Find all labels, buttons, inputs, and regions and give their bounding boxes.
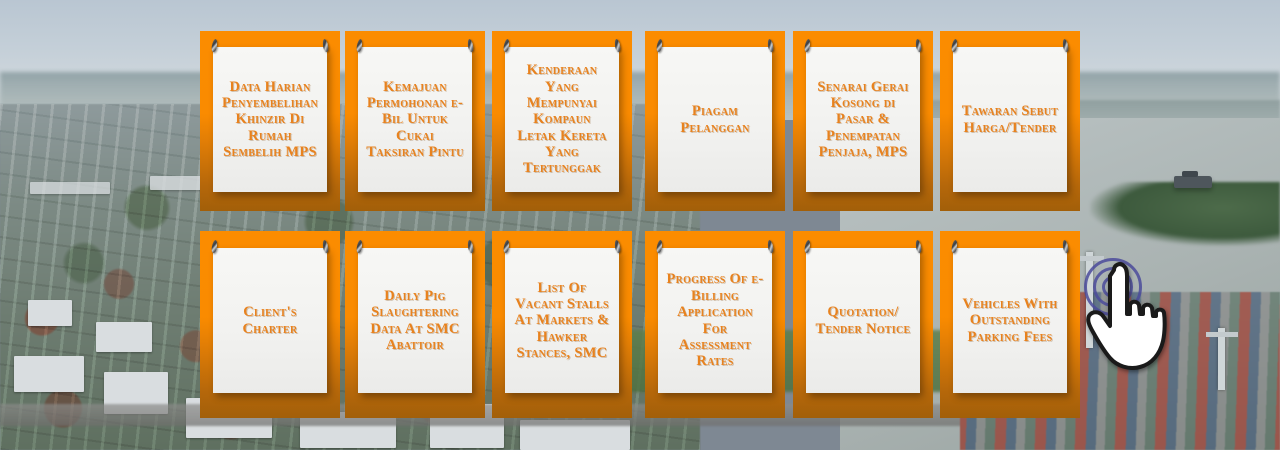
card-vehicles-parking-fees-label: Vehicles With Outstanding Parking Fees bbox=[961, 296, 1059, 345]
card-kemajuan-ebil[interactable]: Kemajuan Permohonan e-Bil Untuk Cukai Ta… bbox=[358, 47, 472, 192]
card-vacant-stalls[interactable]: List Of Vacant Stalls At Markets & Hawke… bbox=[505, 248, 619, 393]
card-daily-pig-slaughtering-label: Daily Pig Slaughtering Data At SMC Abatt… bbox=[366, 288, 464, 354]
card-tawaran-sebut-harga[interactable]: Tawaran Sebut Harga/Tender bbox=[953, 47, 1067, 192]
card-vehicles-parking-fees[interactable]: Vehicles With Outstanding Parking Fees bbox=[953, 248, 1067, 393]
card-data-harian[interactable]: Data Harian Penyembelihan Khinzir Di Rum… bbox=[213, 47, 327, 192]
card-kemajuan-ebil-label: Kemajuan Permohonan e-Bil Untuk Cukai Ta… bbox=[366, 79, 464, 161]
card-tawaran-sebut-harga-label: Tawaran Sebut Harga/Tender bbox=[961, 103, 1059, 136]
card-quotation-tender-notice-label: Quotation/ Tender Notice bbox=[814, 304, 912, 337]
card-daily-pig-slaughtering[interactable]: Daily Pig Slaughtering Data At SMC Abatt… bbox=[358, 248, 472, 393]
card-quotation-tender-notice[interactable]: Quotation/ Tender Notice bbox=[806, 248, 920, 393]
card-vacant-stalls-label: List Of Vacant Stalls At Markets & Hawke… bbox=[513, 280, 611, 362]
card-piagam-pelanggan[interactable]: Piagam Pelanggan bbox=[658, 47, 772, 192]
card-senarai-gerai[interactable]: Senarai Gerai Kosong di Pasar & Penempat… bbox=[806, 47, 920, 192]
card-kenderaan-kompaun[interactable]: Kenderaan Yang Mempunyai Kompaun Letak K… bbox=[505, 47, 619, 192]
card-ebilling-progress-label: Progress Of e-Billing Application For As… bbox=[666, 271, 764, 369]
card-kenderaan-kompaun-label: Kenderaan Yang Mempunyai Kompaun Letak K… bbox=[513, 62, 611, 177]
card-ebilling-progress[interactable]: Progress Of e-Billing Application For As… bbox=[658, 248, 772, 393]
service-card-board: Data Harian Penyembelihan Khinzir Di Rum… bbox=[0, 0, 1280, 450]
card-data-harian-label: Data Harian Penyembelihan Khinzir Di Rum… bbox=[221, 79, 319, 161]
card-piagam-pelanggan-label: Piagam Pelanggan bbox=[666, 103, 764, 136]
card-clients-charter[interactable]: Client's Charter bbox=[213, 248, 327, 393]
card-clients-charter-label: Client's Charter bbox=[221, 304, 319, 337]
card-senarai-gerai-label: Senarai Gerai Kosong di Pasar & Penempat… bbox=[814, 79, 912, 161]
